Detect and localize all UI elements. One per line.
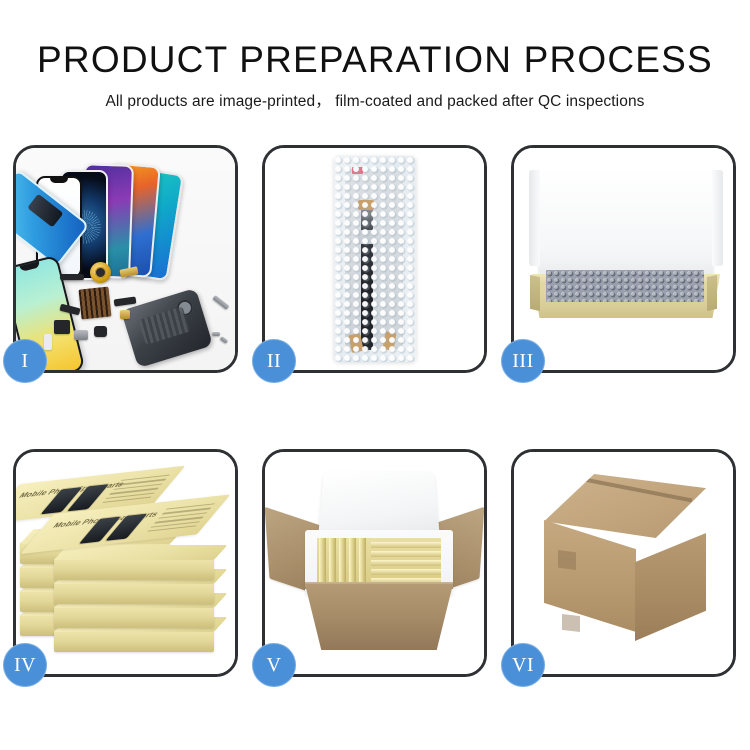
header: PRODUCT PREPARATION PROCESS All products… xyxy=(0,0,750,112)
carton-left-face xyxy=(544,520,636,632)
step-badge-6: VI xyxy=(501,643,545,687)
carton-body xyxy=(305,584,453,650)
step-panel-1[interactable]: I xyxy=(13,145,238,373)
box-flap-left xyxy=(530,275,540,311)
yellow-boxes-inside xyxy=(317,538,441,588)
step-panel-2[interactable]: II xyxy=(262,145,487,373)
step-panel-4[interactable]: Mobile Phone Spare Parts xyxy=(13,449,238,677)
stacked-box xyxy=(54,558,214,580)
spare-part-screw xyxy=(212,332,220,336)
spare-part-connector xyxy=(44,334,52,350)
step-badge-1: I xyxy=(3,339,47,383)
step-panel-3[interactable]: III xyxy=(511,145,736,373)
carton-right-face xyxy=(635,533,706,641)
page-title: PRODUCT PREPARATION PROCESS xyxy=(0,38,750,82)
step-image-6 xyxy=(514,452,733,674)
step-panel-6[interactable]: VI xyxy=(511,449,736,677)
step-panel-5[interactable]: V xyxy=(262,449,487,677)
sealed-carton xyxy=(534,474,716,650)
process-step-grid: I II xyxy=(13,145,737,685)
stacked-box xyxy=(54,606,214,628)
step-badge-5: V xyxy=(252,643,296,687)
stacked-box-printed-front: Mobile Phone Spare Parts xyxy=(54,514,224,558)
infographic-page: PRODUCT PREPARATION PROCESS All products… xyxy=(0,0,750,750)
spare-part-strip xyxy=(60,274,84,280)
box-flap-right xyxy=(707,275,717,311)
spare-part-speaker xyxy=(74,330,88,340)
carton-handle-tab-bottom xyxy=(562,614,580,632)
step-badge-4: IV xyxy=(3,643,47,687)
step-image-1 xyxy=(16,148,235,370)
box-lid-spec-lines xyxy=(145,503,215,534)
step-badge-3: III xyxy=(501,339,545,383)
step-badge-2: II xyxy=(252,339,296,383)
gold-coil-part xyxy=(90,262,111,283)
bubble-texture xyxy=(334,156,416,362)
grey-bubble-insert xyxy=(546,270,704,302)
step-image-2 xyxy=(265,148,484,370)
spare-part-gold-clip xyxy=(120,310,130,319)
step-image-3 xyxy=(514,148,733,370)
spare-part-bracket xyxy=(54,320,70,334)
step-image-4: Mobile Phone Spare Parts xyxy=(16,452,235,674)
stacked-box xyxy=(54,582,214,604)
stacked-box xyxy=(54,630,214,652)
bubble-wrap-package xyxy=(334,156,416,362)
spare-part-button xyxy=(94,326,107,337)
carton-handle-tab-top xyxy=(558,550,576,570)
box-stack: Mobile Phone Spare Parts xyxy=(20,466,234,662)
step-image-5 xyxy=(265,452,484,674)
page-subtitle: All products are image-printed， film-coa… xyxy=(0,92,750,112)
chip-array-part xyxy=(79,287,112,320)
